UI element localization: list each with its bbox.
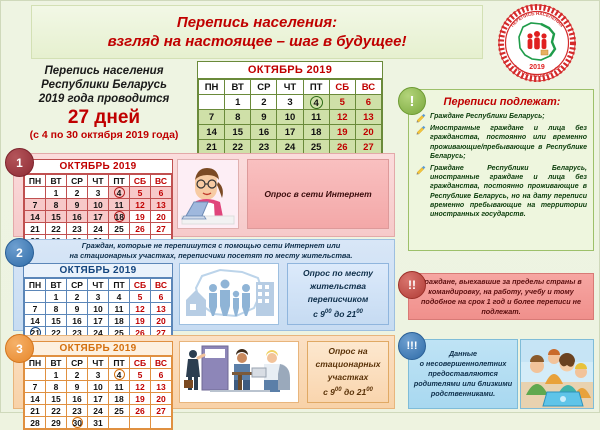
calendar-day: 6	[151, 369, 172, 381]
intro-line1: Перепись населения	[19, 64, 189, 78]
calendar-weekday-row: ПНВТСРЧТПТСБВС	[25, 279, 172, 291]
calendar-week-row: 14151617181920	[25, 211, 172, 223]
calendar-day: 10	[88, 303, 109, 315]
calendar-day: 28	[25, 417, 46, 429]
calendar-week-row: 28293031	[25, 417, 172, 429]
cta-stationary-survey: Опрос на стационарных участках с 900 до …	[307, 341, 389, 403]
panel-subject-title: Переписи подлежат:	[417, 96, 587, 108]
calendar-day: 8	[46, 303, 67, 315]
calendar-day: 15	[46, 211, 67, 223]
calendar-day: 9	[67, 303, 88, 315]
calendar-day: 10	[88, 381, 109, 393]
calendar-week-row: 123456	[25, 187, 172, 199]
calendar-day: 26	[130, 405, 151, 417]
calendar-day: 3	[88, 369, 109, 381]
cta2-line4-pre: с 9	[313, 309, 325, 319]
calendar-day: 3	[88, 291, 109, 303]
calendar-day-empty	[109, 417, 130, 429]
calendar-day: 1	[46, 369, 67, 381]
calendar-weekday-row: ПНВТСРЧТПТСБВС	[199, 80, 382, 95]
row-2-note: Граждан, которые не перепишутся с помощь…	[35, 240, 387, 261]
picture-census-office	[179, 341, 299, 403]
calendar-weekday: ПН	[25, 175, 46, 187]
calendar-day: 15	[46, 315, 67, 327]
cta3-sup1: 00	[335, 387, 342, 393]
calendar-day: 14	[25, 315, 46, 327]
calendar-day: 11	[109, 303, 130, 315]
calendar-day: 20	[151, 211, 172, 223]
calendar-day: 4	[109, 291, 130, 303]
calendar-day: 10	[277, 110, 303, 125]
calendar-day: 26	[130, 223, 151, 235]
calendar-day: 25	[109, 223, 130, 235]
calendar-day: 6	[151, 187, 172, 199]
calendar-day-empty	[130, 417, 151, 429]
calendar-week-row: 14151617181920	[25, 393, 172, 405]
calendar-day: 6	[151, 291, 172, 303]
subject-item-1: Граждане Республики Беларусь;	[417, 112, 587, 121]
calendar-day: 5	[329, 95, 355, 110]
calendar-day: 8	[46, 199, 67, 211]
subject-item-2: Иностранные граждане и лица без гражданс…	[417, 124, 587, 161]
calendar-weekday: СР	[67, 175, 88, 187]
calendar-day: 9	[67, 199, 88, 211]
row-number-badge-3: 3	[5, 334, 34, 363]
cta-home-survey-text: Опрос по месту жительства переписчиком с…	[303, 267, 373, 321]
calendar-weekday: СБ	[130, 279, 151, 291]
calendar-day: 12	[329, 110, 355, 125]
calendar-weekday: СР	[251, 80, 277, 95]
calendar-weekday: ЧТ	[88, 357, 109, 369]
calendar-day: 13	[151, 303, 172, 315]
calendar-day: 7	[199, 110, 225, 125]
cta-internet-survey-text: Опрос в сети Интернет	[264, 188, 371, 200]
minors-line1: Данные	[449, 349, 477, 358]
cta2-sup2: 00	[356, 309, 363, 315]
calendar-weekday: СР	[67, 357, 88, 369]
calendar-day: 16	[67, 393, 88, 405]
calendar-day-empty	[25, 291, 46, 303]
calendar-weekday-row: ПНВТСРЧТПТСБВС	[25, 357, 172, 369]
calendar-week-row: 78910111213	[25, 303, 172, 315]
calendar-day: 15	[46, 393, 67, 405]
page-title-line1: Перепись населения:	[177, 13, 337, 32]
calendar-weekday: ВТ	[46, 357, 67, 369]
calendar-day: 19	[329, 125, 355, 140]
calendar-day: 19	[130, 393, 151, 405]
svg-text:2019: 2019	[529, 64, 545, 71]
calendar-day: 11	[303, 110, 329, 125]
calendar-day: 24	[88, 223, 109, 235]
calendar-day: 12	[130, 381, 151, 393]
calendar-day: 16	[67, 211, 88, 223]
calendar-day: 5	[130, 291, 151, 303]
intro-line2: Республики Беларусь	[19, 78, 189, 92]
calendar-day: 9	[251, 110, 277, 125]
calendar-day: 21	[25, 405, 46, 417]
calendar-day: 10	[88, 199, 109, 211]
panel-minors-text: Данные о несовершеннолетних предоставляю…	[414, 349, 512, 399]
calendar-week-row: 14151617181920	[199, 125, 382, 140]
calendar-day: 1	[46, 291, 67, 303]
calendar-weekday: ПН	[25, 279, 46, 291]
calendar-day: 17	[88, 315, 109, 327]
row-2-note-line1: Граждан, которые не перепишутся с помощь…	[82, 241, 340, 251]
cta2-line2: жительства	[310, 281, 366, 291]
cta-stationary-survey-text: Опрос на стационарных участках с 900 до …	[315, 345, 380, 399]
calendar-weekday: ВС	[355, 80, 381, 95]
cta2-line1: Опрос по месту	[303, 268, 373, 278]
calendar-title: ОКТЯБРЬ 2019	[198, 62, 382, 79]
calendar-day: 3	[88, 187, 109, 199]
calendar-day: 20	[151, 393, 172, 405]
calendar-day: 12	[130, 199, 151, 211]
badge-exclamation-2: !!	[398, 271, 426, 299]
calendar-day: 27	[151, 223, 172, 235]
calendar-week-row: 21222324252627	[25, 405, 172, 417]
calendar-day: 4	[303, 95, 329, 110]
calendar-weekday: ВТ	[46, 279, 67, 291]
picture-family-and-houses	[179, 263, 279, 325]
calendar-weekday: ВС	[151, 357, 172, 369]
calendar-weekday: ПН	[199, 80, 225, 95]
calendar-day: 2	[67, 187, 88, 199]
calendar-weekday: ПТ	[109, 175, 130, 187]
minors-line4: родителями или близкими	[414, 379, 512, 388]
calendar-day: 13	[151, 199, 172, 211]
calendar-weekday: ПТ	[109, 279, 130, 291]
calendar-weekday: ПТ	[109, 357, 130, 369]
subject-item-3-text: Граждане Республики Беларусь, иностранны…	[430, 164, 587, 219]
calendar-weekday: ВТ	[46, 175, 67, 187]
calendar-day: 8	[46, 381, 67, 393]
calendar-grid: ПНВТСРЧТПТСБВС12345678910111213141516171…	[24, 356, 172, 429]
census-logo: 2019 ПЕРЕПИСЬ НАСЕЛЕНИЯ РЕСПУБЛИКИ БЕЛАР…	[485, 3, 589, 83]
calendar-weekday: ЧТ	[88, 175, 109, 187]
cta3-sup2: 00	[366, 387, 373, 393]
row-number-badge-1: 1	[5, 148, 34, 177]
cta3-line1: Опрос на	[328, 346, 367, 356]
calendar-day: 4	[109, 369, 130, 381]
calendar-week-row: 14151617181920	[25, 315, 172, 327]
calendar-day: 8	[225, 110, 251, 125]
calendar-grid: ПНВТСРЧТПТСБВС12345678910111213141516171…	[24, 174, 172, 247]
cta3-line4-pre: с 9	[323, 387, 335, 397]
calendar-title: ОКТЯБРЬ 2019	[24, 342, 172, 356]
calendar-day: 11	[109, 199, 130, 211]
family-photo	[520, 339, 594, 409]
subject-item-3: Граждане Республики Беларусь, иностранны…	[417, 164, 587, 219]
calendar-day: 25	[109, 405, 130, 417]
calendar-day: 17	[88, 211, 109, 223]
calendar-row-3: ОКТЯБРЬ 2019 ПНВТСРЧТПТСБВС1234567891011…	[23, 341, 173, 430]
minors-line5: родственниками.	[431, 389, 495, 398]
cta-home-survey: Опрос по месту жительства переписчиком с…	[287, 263, 389, 325]
calendar-day: 20	[151, 315, 172, 327]
calendar-day: 29	[46, 417, 67, 429]
calendar-day: 2	[251, 95, 277, 110]
calendar-day: 31	[88, 417, 109, 429]
calendar-day: 14	[25, 393, 46, 405]
panel-exempt-text: Граждане, выехавшие за пределы страны в …	[414, 277, 588, 317]
panel-exempt-from-census: Граждане, выехавшие за пределы страны в …	[408, 273, 594, 320]
calendar-weekday-row: ПНВТСРЧТПТСБВС	[25, 175, 172, 187]
calendar-day-empty	[25, 187, 46, 199]
cta2-sup1: 00	[325, 309, 332, 315]
calendar-weekday: СБ	[130, 357, 151, 369]
intro-duration: 27 дней	[19, 107, 189, 129]
infographic-page: Перепись населения: взгляд на настоящее …	[0, 0, 600, 413]
calendar-day: 17	[88, 393, 109, 405]
calendar-day: 21	[25, 223, 46, 235]
calendar-day: 4	[109, 187, 130, 199]
calendar-day: 1	[225, 95, 251, 110]
calendar-day-empty	[199, 95, 225, 110]
calendar-day: 6	[355, 95, 381, 110]
calendar-day: 22	[46, 405, 67, 417]
calendar-day: 19	[130, 315, 151, 327]
row-2-note-line2: на стационарных участках, переписчики по…	[70, 251, 353, 261]
cta3-line3: участках	[328, 372, 369, 382]
calendar-week-row: 123456	[199, 95, 382, 110]
cta3-line4-mid: до 21	[342, 387, 367, 397]
calendar-day: 13	[355, 110, 381, 125]
calendar-day: 15	[225, 125, 251, 140]
pencil-icon	[416, 113, 428, 123]
calendar-day-empty	[151, 417, 172, 429]
calendar-weekday: ЧТ	[277, 80, 303, 95]
calendar-day: 2	[67, 369, 88, 381]
calendar-day: 18	[303, 125, 329, 140]
calendar-week-row: 123456	[25, 369, 172, 381]
calendar-day: 16	[67, 315, 88, 327]
calendar-day: 1	[46, 187, 67, 199]
intro-text: Перепись населения Республики Беларусь 2…	[19, 64, 189, 142]
intro-line3: 2019 года проводится	[19, 92, 189, 106]
calendar-title: ОКТЯБРЬ 2019	[24, 160, 172, 174]
calendar-day: 14	[25, 211, 46, 223]
calendar-weekday: ВТ	[225, 80, 251, 95]
badge-exclamation-3: !!!	[398, 332, 426, 360]
calendar-day: 24	[88, 405, 109, 417]
calendar-day: 20	[355, 125, 381, 140]
calendar-week-row: 78910111213	[199, 110, 382, 125]
calendar-day: 13	[151, 381, 172, 393]
calendar-weekday: ВС	[151, 279, 172, 291]
row-number-badge-2: 2	[5, 238, 34, 267]
calendar-weekday: СБ	[329, 80, 355, 95]
calendar-day: 9	[67, 381, 88, 393]
page-title-line2: взгляд на настоящее – шаг в будущее!	[108, 32, 407, 51]
calendar-day: 18	[109, 211, 130, 223]
picture-woman-with-laptop	[177, 159, 239, 229]
calendar-week-row: 78910111213	[25, 199, 172, 211]
calendar-day: 17	[277, 125, 303, 140]
calendar-weekday: СБ	[130, 175, 151, 187]
calendar-day: 14	[199, 125, 225, 140]
cta2-line3: переписчиком	[308, 294, 369, 304]
calendar-day-empty	[25, 369, 46, 381]
calendar-day: 23	[67, 405, 88, 417]
page-title-banner: Перепись населения: взгляд на настоящее …	[31, 5, 483, 59]
calendar-day: 12	[130, 303, 151, 315]
calendar-day: 11	[109, 381, 130, 393]
subject-item-1-text: Граждане Республики Беларусь;	[430, 112, 587, 121]
calendar-weekday: ВС	[151, 175, 172, 187]
calendar-weekday: СР	[67, 279, 88, 291]
calendar-week-row: 78910111213	[25, 381, 172, 393]
calendar-day: 16	[251, 125, 277, 140]
calendar-week-row: 123456	[25, 291, 172, 303]
calendar-day: 7	[25, 381, 46, 393]
calendar-row-1: ОКТЯБРЬ 2019 ПНВТСРЧТПТСБВС1234567891011…	[23, 159, 173, 248]
calendar-day: 7	[25, 303, 46, 315]
minors-line3: предоставляются	[428, 369, 498, 378]
subject-item-2-text: Иностранные граждане и лица без гражданс…	[430, 124, 587, 161]
cta3-line2: стационарных	[315, 359, 380, 369]
intro-daterange: (с 4 по 30 октября 2019 года)	[19, 129, 189, 142]
calendar-day: 5	[130, 369, 151, 381]
calendar-weekday: ЧТ	[88, 279, 109, 291]
calendar-day: 18	[109, 315, 130, 327]
calendar-day: 3	[277, 95, 303, 110]
calendar-week-row: 21222324252627	[25, 223, 172, 235]
cta2-line4-mid: до 21	[332, 309, 357, 319]
calendar-day: 23	[67, 223, 88, 235]
calendar-day: 27	[151, 405, 172, 417]
pencil-icon	[416, 125, 428, 135]
cta-internet-survey: Опрос в сети Интернет	[247, 159, 389, 229]
calendar-day: 30	[67, 417, 88, 429]
calendar-day: 22	[46, 223, 67, 235]
panel-subject-to-census: Переписи подлежат: Граждане Республики Б…	[408, 89, 594, 251]
minors-line2: о несовершеннолетних	[420, 359, 507, 368]
pencil-icon	[416, 165, 428, 175]
calendar-day: 18	[109, 393, 130, 405]
badge-exclamation-1: !	[398, 87, 426, 115]
calendar-title: ОКТЯБРЬ 2019	[24, 264, 172, 278]
calendar-day: 5	[130, 187, 151, 199]
calendar-day: 2	[67, 291, 88, 303]
calendar-day: 7	[25, 199, 46, 211]
calendar-weekday: ПТ	[303, 80, 329, 95]
calendar-day: 19	[130, 211, 151, 223]
